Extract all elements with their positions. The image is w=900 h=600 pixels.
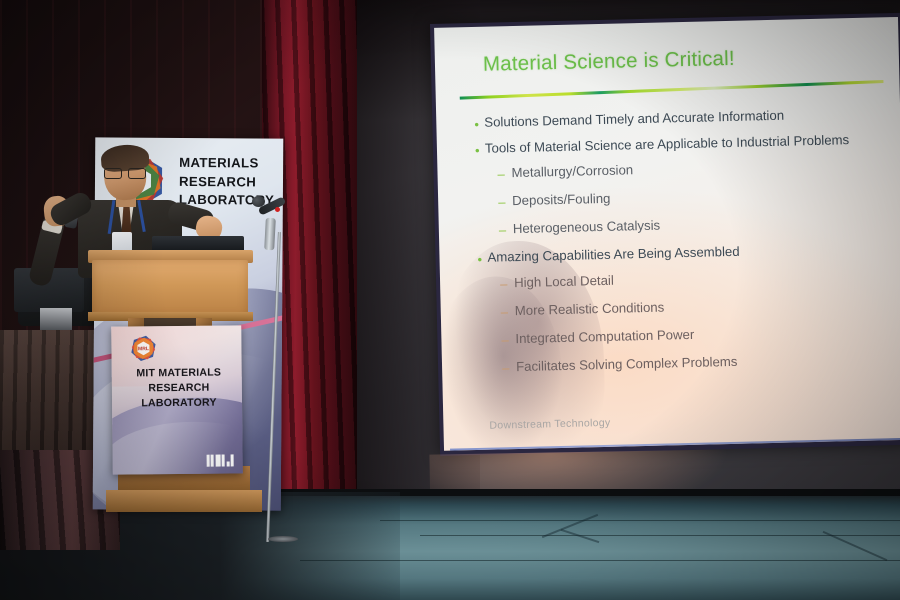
sub-bullet-text: Metallurgy/Corrosion bbox=[511, 162, 633, 180]
sub-bullet-text: Heterogeneous Catalysis bbox=[513, 218, 661, 237]
dash-icon: – bbox=[499, 221, 513, 236]
slide-divider-rule bbox=[460, 80, 884, 100]
sign-line-2: RESEARCH bbox=[118, 380, 240, 396]
sub-bullet-text: Deposits/Fouling bbox=[512, 191, 611, 209]
sign-line-3: LABORATORY bbox=[118, 395, 240, 411]
bullet-text: Solutions Demand Timely and Accurate Inf… bbox=[484, 108, 784, 131]
bullet-text: Amazing Capabilities Are Being Assembled bbox=[487, 244, 739, 266]
microphone-led-indicator bbox=[275, 207, 280, 212]
tabletop-object bbox=[40, 308, 72, 330]
sub-bullet-text: Facilitates Solving Complex Problems bbox=[516, 354, 738, 375]
floor-plank-seam bbox=[380, 520, 900, 521]
podium-sign: MRL MIT MATERIALS RESEARCH LABORATORY bbox=[111, 325, 243, 474]
dash-icon: – bbox=[502, 359, 516, 374]
dash-icon: – bbox=[497, 165, 511, 180]
stage-scene: Material Science is Critical! • Solution… bbox=[0, 0, 900, 600]
dash-icon: – bbox=[500, 275, 514, 290]
draped-table bbox=[0, 330, 106, 450]
eyeglasses-icon bbox=[104, 168, 146, 177]
bullet-item: • Amazing Capabilities Are Being Assembl… bbox=[477, 240, 897, 266]
sign-line-1: MIT MATERIALS bbox=[118, 365, 240, 381]
projection-screen: Material Science is Critical! • Solution… bbox=[430, 13, 900, 456]
sub-bullet-item: – Metallurgy/Corrosion bbox=[497, 156, 895, 181]
sub-bullet-item: – Facilitates Solving Complex Problems bbox=[502, 350, 900, 375]
bullet-dot-icon: • bbox=[477, 250, 487, 266]
dash-icon: – bbox=[501, 303, 515, 318]
sub-bullet-item: – High Local Detail bbox=[500, 266, 898, 291]
bullet-dot-icon: • bbox=[474, 115, 484, 131]
screen-surface: Material Science is Critical! • Solution… bbox=[434, 17, 900, 451]
sign-text-block: MIT MATERIALS RESEARCH LABORATORY bbox=[118, 365, 240, 411]
mrl-logo-icon: MRL bbox=[123, 331, 163, 365]
svg-text:MRL: MRL bbox=[138, 346, 149, 352]
bullet-item: • Tools of Material Science are Applicab… bbox=[475, 131, 895, 157]
slide-title: Material Science is Critical! bbox=[483, 47, 735, 77]
floor-plank-seam bbox=[300, 560, 900, 561]
mit-logo-icon bbox=[206, 454, 234, 466]
microphone-clip bbox=[264, 218, 276, 250]
microphone-stand-base bbox=[268, 536, 298, 542]
sub-bullet-item: – Heterogeneous Catalysis bbox=[499, 212, 897, 237]
sub-bullet-item: – Integrated Computation Power bbox=[501, 322, 899, 347]
bullet-dot-icon: • bbox=[475, 140, 485, 156]
podium-base bbox=[106, 490, 262, 512]
microphone-head-icon bbox=[252, 196, 265, 207]
dash-icon: – bbox=[498, 193, 512, 208]
slide-bullet-list: • Solutions Demand Timely and Accurate I… bbox=[474, 105, 900, 388]
sub-bullet-text: High Local Detail bbox=[514, 272, 614, 290]
sub-bullet-item: – Deposits/Fouling bbox=[498, 184, 896, 209]
podium-front-panel bbox=[92, 260, 248, 318]
sub-bullet-item: – More Realistic Conditions bbox=[501, 294, 899, 319]
dash-icon: – bbox=[501, 331, 515, 346]
sub-bullet-text: More Realistic Conditions bbox=[515, 299, 665, 318]
banner-line-2: RESEARCH bbox=[179, 173, 274, 192]
bullet-item: • Solutions Demand Timely and Accurate I… bbox=[474, 105, 894, 131]
bullet-text: Tools of Material Science are Applicable… bbox=[485, 132, 850, 156]
sub-bullet-text: Integrated Computation Power bbox=[515, 327, 694, 347]
banner-line-1: MATERIALS bbox=[179, 154, 274, 173]
